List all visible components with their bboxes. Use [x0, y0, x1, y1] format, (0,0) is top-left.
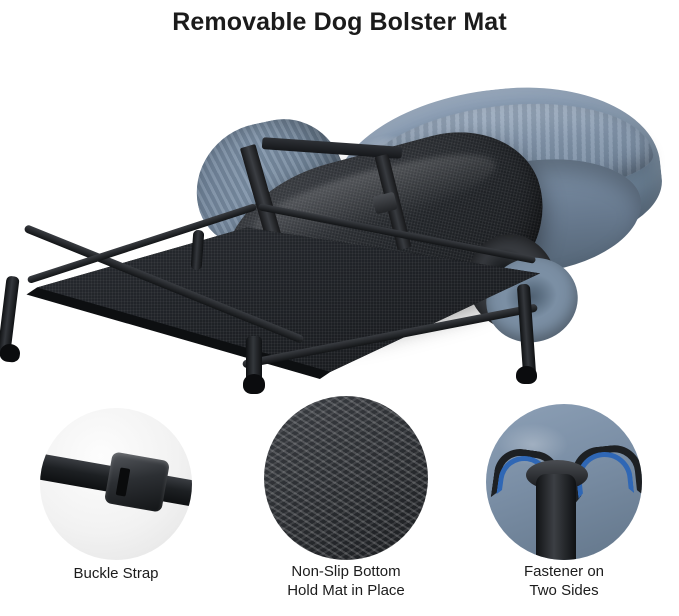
caption-line: Two Sides [464, 581, 664, 600]
bed-foot-right [516, 366, 537, 384]
product-infographic: Removable Dog Bolster Mat [0, 0, 679, 616]
callout-buckle-strap-image [40, 408, 192, 560]
caption-line: Fastener on [464, 562, 664, 581]
hero-product-photo [0, 44, 679, 396]
caption-line: Hold Mat in Place [238, 581, 454, 600]
bed-leg-post [536, 474, 576, 560]
caption-fastener: Fastener on Two Sides [464, 562, 664, 600]
bed-leg-front-left [0, 275, 20, 354]
callout-non-slip-bottom-image [264, 396, 428, 560]
caption-buckle-strap: Buckle Strap [20, 564, 212, 583]
bed-foot-front-left [0, 343, 21, 363]
buckle-clip [104, 451, 170, 512]
bed-foot-center-front [243, 374, 265, 394]
caption-line: Non-Slip Bottom [238, 562, 454, 581]
caption-line: Buckle Strap [20, 564, 212, 583]
caption-non-slip-bottom: Non-Slip Bottom Hold Mat in Place [238, 562, 454, 600]
page-title: Removable Dog Bolster Mat [0, 0, 679, 44]
callout-fastener-image [486, 404, 642, 560]
